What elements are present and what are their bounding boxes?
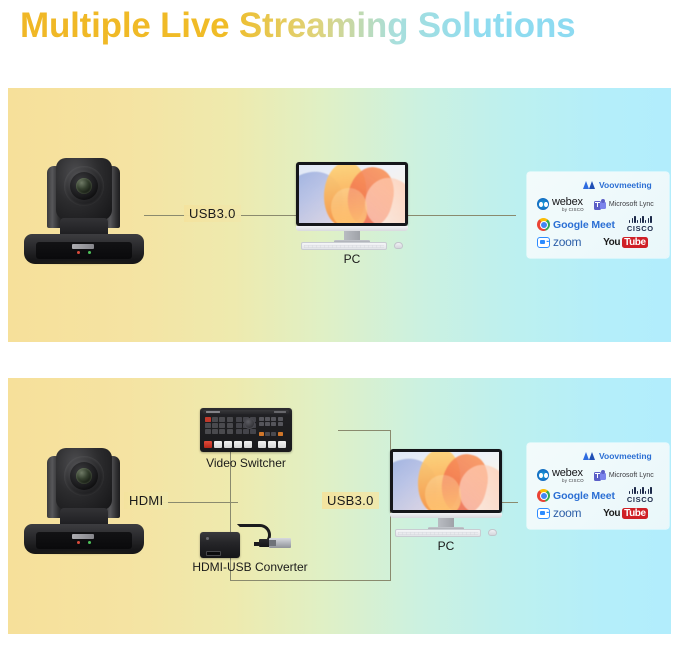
camera-power-led-icon — [77, 541, 80, 544]
platform-microsoft-lync: Microsoft Lync — [594, 470, 654, 481]
platform-voovmeeting: Voovmeeting — [583, 180, 652, 190]
keyboard-icon — [395, 529, 481, 537]
platform-youtube: You Tube — [603, 508, 648, 519]
keyboard-icon — [301, 242, 387, 250]
youtube-icon-you: You — [603, 237, 620, 248]
solution-panel-direct-usb: USB3.0 — [8, 88, 671, 342]
camera-shadow — [22, 260, 146, 266]
monitor-bezel-icon — [390, 449, 502, 513]
hdmi-usb-converter-label: HDMI-USB Converter — [186, 560, 314, 574]
switcher-button-grid-d — [259, 432, 283, 436]
platform-webex: webex by CISCO — [537, 467, 584, 483]
platform-webex: webex by CISCO — [537, 196, 584, 212]
switcher-button-grid-a — [205, 417, 233, 434]
pc-workstation-top: PC — [296, 162, 408, 254]
platform-label-google-meet: Google Meet — [553, 490, 615, 502]
camera-status-led-icon — [88, 541, 91, 544]
video-switcher: Video Switcher — [200, 408, 292, 468]
webex-icon — [537, 469, 549, 481]
google-meet-icon — [537, 489, 550, 502]
platform-voovmeeting: Voovmeeting — [583, 451, 652, 461]
platform-youtube: You Tube — [603, 237, 648, 248]
monitor-screen-wallpaper — [393, 452, 499, 510]
voovmeeting-icon — [583, 452, 596, 460]
cisco-icon — [629, 216, 652, 223]
converter-indicator-icon — [206, 537, 209, 540]
monitor-stand-neck-icon — [344, 231, 360, 240]
platform-label-microsoft-lync: Microsoft Lync — [609, 201, 654, 208]
converter-usb-tip-icon — [269, 540, 276, 546]
platform-cisco: CISCO — [627, 216, 654, 233]
connector-branch-switcher-right — [338, 430, 391, 431]
switcher-knob-icon — [244, 418, 255, 429]
platform-row-2: webex by CISCO Microsoft Lync — [537, 196, 654, 212]
solution-panel-switcher-converter: HDMI USB3.0 — [8, 378, 671, 634]
platform-row-4: zoom You Tube — [537, 506, 648, 520]
hdmi-usb-converter: HDMI-USB Converter — [190, 518, 310, 572]
connector-pc-to-platforms-bottom — [502, 502, 518, 503]
webex-icon — [537, 198, 549, 210]
ptz-camera — [22, 150, 146, 265]
voovmeeting-icon — [583, 181, 596, 189]
camera-brand-logo-icon — [72, 244, 94, 249]
switcher-button-grid-c — [259, 417, 283, 426]
camera-lens-glass-icon — [76, 468, 92, 484]
pc-workstation-bottom: PC — [390, 449, 502, 541]
page-title: Multiple Live Streaming Solutions — [20, 0, 665, 52]
platform-row-1: Voovmeeting — [583, 180, 652, 190]
platform-label-cisco: CISCO — [627, 495, 654, 504]
platform-google-meet: Google Meet — [537, 218, 615, 231]
camera-power-led-icon — [77, 251, 80, 254]
platform-cisco: CISCO — [627, 487, 654, 504]
google-meet-icon — [537, 218, 550, 231]
connector-label-usb30-bottom: USB3.0 — [322, 492, 379, 509]
youtube-icon-you: You — [603, 508, 620, 519]
platform-label-cisco: CISCO — [627, 224, 654, 233]
youtube-icon-tube: Tube — [622, 237, 649, 248]
connector-pc-to-platforms — [408, 215, 516, 216]
platform-microsoft-lync: Microsoft Lync — [594, 199, 654, 210]
connector-branch-converter — [230, 580, 391, 581]
video-switcher-icon — [200, 408, 292, 452]
platform-label-voovmeeting: Voovmeeting — [599, 180, 652, 190]
platform-row-4: zoom You Tube — [537, 235, 648, 249]
platform-zoom: zoom — [537, 506, 581, 520]
platform-label-microsoft-lync: Microsoft Lync — [609, 472, 654, 479]
pc-label-bottom: PC — [390, 539, 502, 553]
platform-label-zoom: zoom — [553, 235, 581, 249]
zoom-icon — [537, 237, 550, 248]
platform-sublabel-webex: by CISCO — [562, 478, 584, 483]
mouse-icon — [488, 529, 497, 536]
platform-row-3: Google Meet CISCO — [537, 487, 654, 504]
cisco-icon — [629, 487, 652, 494]
infographic-root: Multiple Live Streaming Solutions USB3.0 — [0, 0, 679, 645]
platform-sublabel-webex: by CISCO — [562, 207, 584, 212]
mouse-icon — [394, 242, 403, 249]
microsoft-lync-icon — [594, 470, 606, 481]
platform-row-2: webex by CISCO Microsoft Lync — [537, 467, 654, 483]
monitor-stand-neck-icon — [438, 518, 454, 527]
platform-label-google-meet: Google Meet — [553, 219, 615, 231]
converter-hdmi-port-icon — [206, 551, 221, 556]
pc-label-top: PC — [296, 252, 408, 266]
video-switcher-label: Video Switcher — [186, 456, 306, 470]
connector-label-usb30-top: USB3.0 — [184, 205, 241, 222]
ptz-camera-bottom — [22, 440, 146, 555]
camera-lens-glass-icon — [76, 178, 92, 194]
platform-label-voovmeeting: Voovmeeting — [599, 451, 652, 461]
platform-google-meet: Google Meet — [537, 489, 615, 502]
switcher-button-row-right — [258, 441, 286, 448]
streaming-platforms-card-top: Voovmeeting webex by CISCO Microsoft Lyn… — [527, 172, 669, 258]
camera-shadow — [22, 550, 146, 556]
monitor-bezel-icon — [296, 162, 408, 226]
platform-label-zoom: zoom — [553, 506, 581, 520]
monitor-screen-wallpaper — [299, 165, 405, 223]
platform-row-1: Voovmeeting — [583, 451, 652, 461]
camera-status-led-icon — [88, 251, 91, 254]
switcher-button-row-left — [204, 441, 252, 448]
platform-row-3: Google Meet CISCO — [537, 216, 654, 233]
microsoft-lync-icon — [594, 199, 606, 210]
youtube-icon-tube: Tube — [622, 508, 649, 519]
platform-zoom: zoom — [537, 235, 581, 249]
camera-brand-logo-icon — [72, 534, 94, 539]
streaming-platforms-card-bottom: Voovmeeting webex by CISCO Microsoft Lyn… — [527, 443, 669, 529]
zoom-icon — [537, 508, 550, 519]
